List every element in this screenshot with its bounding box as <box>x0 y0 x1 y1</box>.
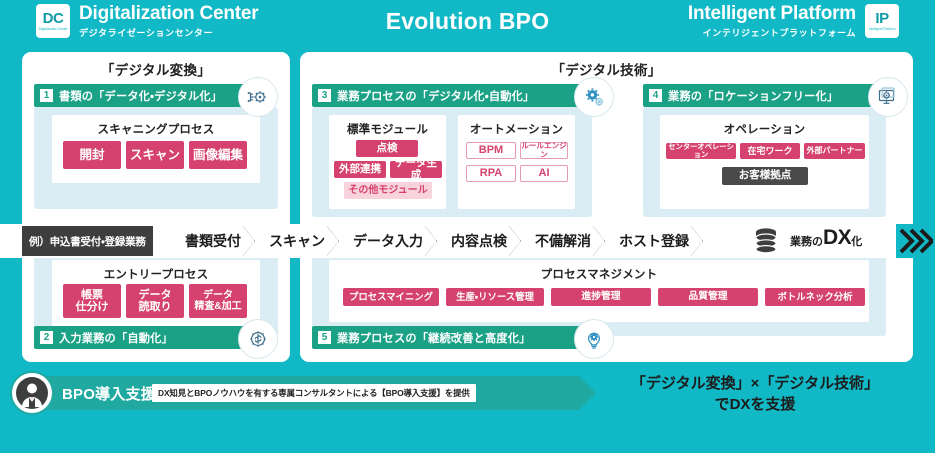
gears-icon <box>574 77 614 117</box>
lightbulb-gear-icon <box>574 319 614 359</box>
chip-rule-engine[interactable]: ルールエンジン <box>520 142 568 159</box>
automation-card: オートメーション BPM ルールエンジン RPA AI <box>458 115 575 209</box>
entry-process-chips: 帳票 仕分け データ 読取り データ 精査&加工 <box>63 284 247 318</box>
ip-brand-name-en: Intelligent Platform <box>688 4 856 24</box>
section-3-header[interactable]: 3 業務プロセスの「デジタル化・自動化」 <box>312 84 592 107</box>
operation-title: オペレーション <box>660 121 869 137</box>
dx-suffix: 化 <box>851 233 862 249</box>
flow-example-text: 例）申込書受付・登録業務 <box>29 234 146 249</box>
section-1-label: 書類の「データ化・デジタル化」 <box>59 88 222 104</box>
flow-example-label: 例）申込書受付・登録業務 <box>22 226 153 256</box>
standard-module-row2: 外部連携 データ生成 <box>334 161 442 178</box>
bpo-support-title: BPO導入支援 <box>62 376 156 410</box>
chip-image-edit[interactable]: 画像編集 <box>189 141 247 169</box>
panel-digital-transformation: 「デジタル変換」 1 書類の「データ化・デジタル化」 スキャニングプロセス 開封 <box>22 52 290 362</box>
left-panel-title: 「デジタル変換」 <box>22 59 290 79</box>
flow-step-data-entry[interactable]: データ入力 <box>338 226 436 256</box>
section-2-label: 入力業務の「自動化」 <box>59 330 173 346</box>
process-management-chips: プロセスマイニング 生産・リソース管理 進捗管理 品質管理 ボトルネック分析 <box>343 288 865 306</box>
chip-inspection[interactable]: 点検 <box>356 140 418 157</box>
chip-quality-management[interactable]: 品質管理 <box>658 288 758 306</box>
right-panel-title: 「デジタル技術」 <box>300 59 913 79</box>
entry-process-title: エントリープロセス <box>52 266 260 282</box>
chip-data-reading[interactable]: データ 読取り <box>126 284 184 318</box>
section-5-header[interactable]: 5 業務プロセスの「継続改善と高度化」 <box>312 326 592 349</box>
section-5-label: 業務プロセスの「継続改善と高度化」 <box>337 330 531 346</box>
chip-ai[interactable]: AI <box>520 165 568 182</box>
header: DC Digitalization Center Digitalization … <box>0 0 935 50</box>
section-2-number: 2 <box>40 331 53 344</box>
chip-data-generation[interactable]: データ生成 <box>390 161 442 178</box>
chip-resource-management[interactable]: 生産・リソース管理 <box>446 288 544 306</box>
scanning-process-title: スキャニングプロセス <box>52 121 260 137</box>
automation-title: オートメーション <box>458 121 575 137</box>
ip-logo-subtext: Intelligent Platform <box>869 28 896 31</box>
flow-steps: 書類受付 スキャン データ入力 内容点検 不備解消 ホスト登録 <box>170 226 702 256</box>
bpo-support-note-text: DX知見とBPOノウハウを有する専属コンサルタントによる【BPO導入支援】を提供 <box>158 387 470 399</box>
standard-module-card: 標準モジュール 点検 外部連携 データ生成 その他モジュール <box>329 115 446 209</box>
flow-step-content-check[interactable]: 内容点検 <box>436 226 520 256</box>
ip-logo-icon: IP Intelligent Platform <box>865 4 899 38</box>
circuit-gear-icon <box>238 77 278 117</box>
scanning-process-card: スキャニングプロセス 開封 スキャン 画像編集 <box>52 115 260 183</box>
automation-row2: RPA AI <box>466 165 568 182</box>
double-chevron-right-icon <box>896 224 935 258</box>
chip-process-mining[interactable]: プロセスマイニング <box>343 288 439 306</box>
brand-intelligent-platform: Intelligent Platform インテリジェントプラットフォーム IP… <box>688 4 899 39</box>
operation-dark-chip-row: お客様拠点 <box>722 167 808 185</box>
bpo-support-note: DX知見とBPOノウハウを有する専属コンサルタントによる【BPO導入支援】を提供 <box>152 384 476 402</box>
chip-rpa[interactable]: RPA <box>466 165 516 182</box>
section-4-body: オペレーション センターオペレーション 在宅ワーク 外部パートナー お客様拠点 <box>643 107 886 217</box>
chip-kaifu[interactable]: 開封 <box>63 141 121 169</box>
process-management-title: プロセスマネジメント <box>329 266 869 282</box>
section-1-number: 1 <box>40 89 53 102</box>
chip-customer-site[interactable]: お客様拠点 <box>722 167 808 185</box>
entry-process-card: エントリープロセス 帳票 仕分け データ 読取り データ 精査&加工 <box>52 260 260 328</box>
section-4-label: 業務の「ロケーションフリー化」 <box>668 88 838 104</box>
panel-digital-technology: 「デジタル技術」 3 業務プロセスの「デジタル化・自動化」 標準モジュール 点検 <box>300 52 913 362</box>
conclusion-line-1: 「デジタル変換」×「デジタル技術」 <box>600 374 910 395</box>
flow-step-host-registration[interactable]: ホスト登録 <box>604 226 702 256</box>
section-4-header[interactable]: 4 業務の「ロケーションフリー化」 <box>643 84 886 107</box>
chip-external-link[interactable]: 外部連携 <box>334 161 386 178</box>
section-2-header[interactable]: 2 入力業務の「自動化」 <box>34 326 256 349</box>
chip-other-modules[interactable]: その他モジュール <box>344 182 432 199</box>
chip-scan[interactable]: スキャン <box>126 141 184 169</box>
section-3-body: 標準モジュール 点検 外部連携 データ生成 その他モジュール オートメーション … <box>312 107 592 217</box>
flow-step-scan[interactable]: スキャン <box>254 226 338 256</box>
chip-center-operation[interactable]: センターオペレーション <box>666 143 736 159</box>
consultant-avatar-icon <box>10 371 54 415</box>
chip-external-partner[interactable]: 外部パートナー <box>804 143 865 159</box>
section-4-number: 4 <box>649 89 662 102</box>
chip-data-refine[interactable]: データ 精査&加工 <box>189 284 247 318</box>
chip-bpm[interactable]: BPM <box>466 142 516 159</box>
operation-chips: センターオペレーション 在宅ワーク 外部パートナー <box>666 143 865 159</box>
conclusion-line-2: でDXを支援 <box>600 395 910 416</box>
automation-row1: BPM ルールエンジン <box>466 142 568 159</box>
ip-logo-abbr: IP <box>875 11 888 26</box>
gear-brain-icon <box>238 319 278 359</box>
standard-module-title: 標準モジュール <box>329 121 446 137</box>
standard-module-row1: 点検 <box>356 140 418 157</box>
monitor-gear-icon <box>868 77 908 117</box>
database-icon <box>752 226 780 261</box>
section-1-body: スキャニングプロセス 開封 スキャン 画像編集 <box>34 107 278 209</box>
section-5-number: 5 <box>318 331 331 344</box>
dx-main: DX <box>823 226 851 250</box>
chip-remote-work[interactable]: 在宅ワーク <box>740 143 800 159</box>
ip-brand-name-ja: インテリジェントプラットフォーム <box>688 26 856 39</box>
flow-step-defect-resolution[interactable]: 不備解消 <box>520 226 604 256</box>
diagram-canvas: DC Digitalization Center Digitalization … <box>0 0 935 453</box>
conclusion-text: 「デジタル変換」×「デジタル技術」 でDXを支援 <box>600 374 910 415</box>
section-3-label: 業務プロセスの「デジタル化・自動化」 <box>337 88 534 104</box>
dx-prefix: 業務の <box>790 233 823 249</box>
flow-step-document-receipt[interactable]: 書類受付 <box>170 226 254 256</box>
chip-form-sorting[interactable]: 帳票 仕分け <box>63 284 121 318</box>
section-2-body: エントリープロセス 帳票 仕分け データ 読取り データ 精査&加工 <box>34 252 278 336</box>
chip-bottleneck-analysis[interactable]: ボトルネック分析 <box>765 288 865 306</box>
standard-module-row3: その他モジュール <box>344 182 432 199</box>
scanning-process-chips: 開封 スキャン 画像編集 <box>63 141 247 169</box>
chip-progress-management[interactable]: 進捗管理 <box>551 288 651 306</box>
section-3-number: 3 <box>318 89 331 102</box>
section-1-header[interactable]: 1 書類の「データ化・デジタル化」 <box>34 84 256 107</box>
dx-result-label: 業務の DX 化 <box>790 226 862 256</box>
operation-card: オペレーション センターオペレーション 在宅ワーク 外部パートナー お客様拠点 <box>660 115 869 209</box>
process-management-card: プロセスマネジメント プロセスマイニング 生産・リソース管理 進捗管理 品質管理… <box>329 260 869 322</box>
